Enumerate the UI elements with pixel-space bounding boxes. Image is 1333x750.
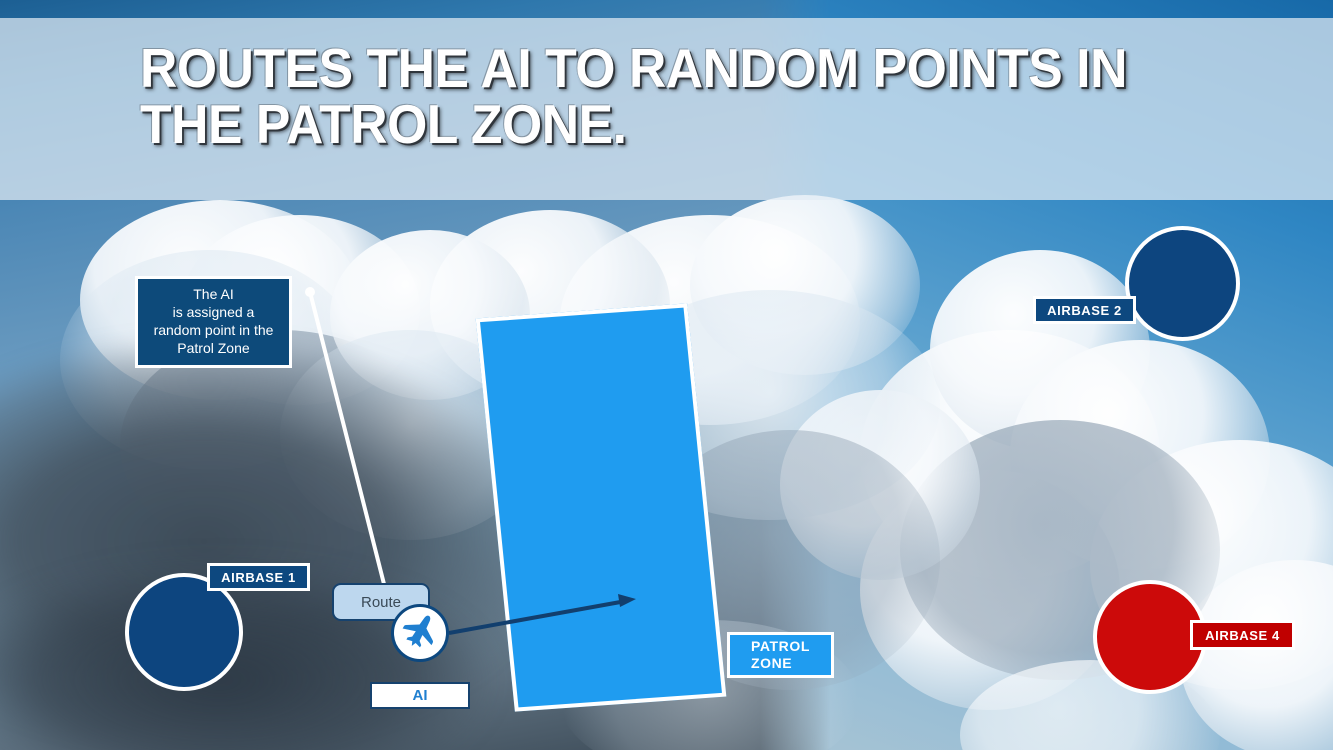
- airbase-2-circle[interactable]: [1125, 226, 1240, 341]
- patrol-zone-shape: [476, 303, 727, 711]
- note-callout-box: The AI is assigned a random point in the…: [135, 276, 292, 368]
- ai-label-box[interactable]: AI: [370, 682, 470, 709]
- airbase-4-label[interactable]: AIRBASE 4: [1190, 620, 1295, 650]
- ai-plane-badge[interactable]: [391, 604, 449, 662]
- airbase-2-label[interactable]: AIRBASE 2: [1033, 296, 1136, 324]
- presentation-slide: ROUTES THE AI TO RANDOM POINTS IN THE PA…: [0, 0, 1333, 750]
- fighter-jet-icon: [398, 611, 442, 655]
- page-title: ROUTES THE AI TO RANDOM POINTS IN THE PA…: [140, 40, 1136, 152]
- airbase-1-label[interactable]: AIRBASE 1: [207, 563, 310, 591]
- patrol-zone-label[interactable]: PATROL ZONE: [727, 632, 834, 678]
